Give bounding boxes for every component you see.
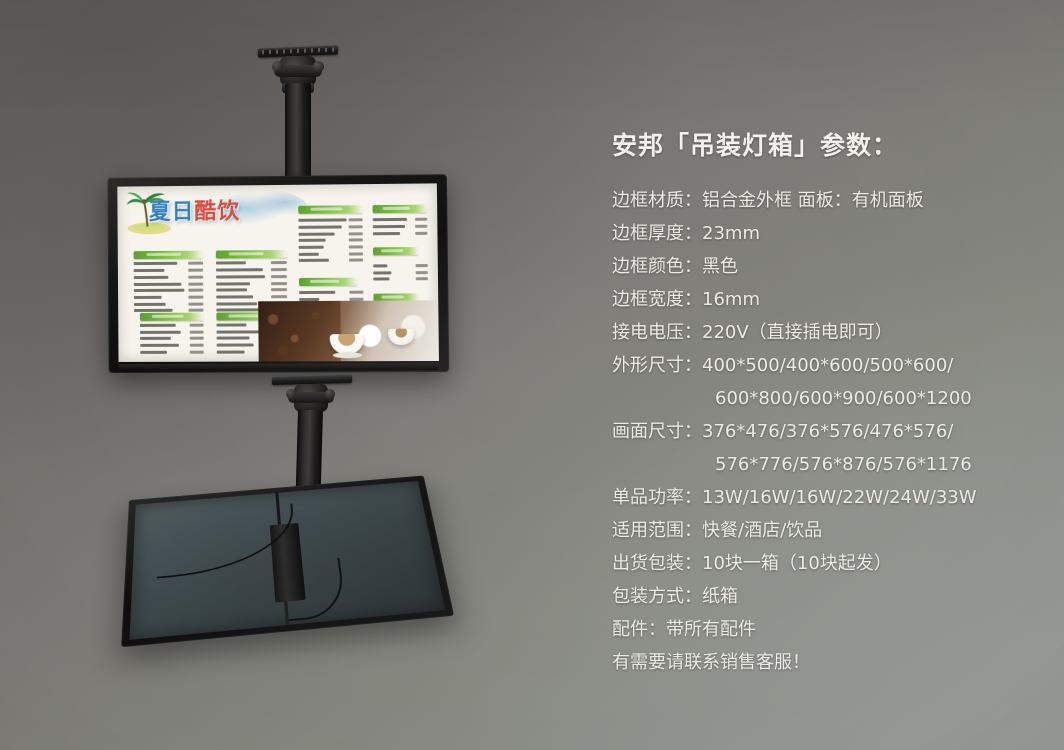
menu-item-row <box>373 277 428 282</box>
menu-item-row <box>299 290 363 295</box>
coffee-cup-front-icon <box>330 334 364 354</box>
swivel-knob-left-icon <box>272 61 283 72</box>
menu-item-row <box>134 301 204 306</box>
menu-light-box: 夏日酷饮 <box>107 174 449 373</box>
swivel-joint-upper <box>280 56 316 86</box>
swivel-joint-lower <box>294 384 328 412</box>
menu-item-row <box>216 281 286 286</box>
menu-item-row <box>299 231 363 236</box>
menu-item-row <box>141 336 205 341</box>
spec-line: 边框宽度：16mm <box>612 283 1042 316</box>
menu-header-artwork: 夏日酷饮 <box>117 185 315 247</box>
menu-item-row <box>373 224 428 229</box>
coffee-beans-image <box>258 301 341 362</box>
menu-item-row <box>134 261 204 266</box>
menu-item-row <box>299 251 363 256</box>
menu-section-rows-3 <box>140 323 204 357</box>
menu-section-banner-1 <box>134 251 204 259</box>
spec-line: 有需要请联系销售客服！ <box>612 646 1042 679</box>
frame-bottom-edge <box>119 363 440 371</box>
swivel-knob-lower-right-icon <box>325 389 335 399</box>
menu-item-row <box>299 245 363 250</box>
spec-line: 边框颜色：黑色 <box>612 250 1042 283</box>
menu-item-row <box>299 218 363 223</box>
coffee-photo <box>258 300 439 361</box>
menu-item-row <box>216 261 286 266</box>
menu-section-banner-8 <box>299 278 357 286</box>
spec-line: 包装方式：纸箱 <box>612 580 1042 613</box>
menu-section-banner-5 <box>299 205 363 214</box>
menu-item-row <box>134 275 204 280</box>
spec-line-list: 边框材质：铝合金外框 面板：有机面板 边框厚度：23mm 边框颜色：黑色 边框宽… <box>612 184 1042 679</box>
menu-title-accent: 酷饮 <box>194 200 240 225</box>
power-cable-secondary <box>284 558 347 621</box>
menu-section-banner-6 <box>373 205 428 214</box>
menu-section-rows-6 <box>373 217 428 238</box>
spec-line: 接电电压：220V（直接插电即可） <box>612 316 1042 349</box>
menu-item-row <box>216 288 286 293</box>
menu-item-row <box>134 268 204 273</box>
menu-item-row <box>134 281 204 286</box>
spec-line: 600*800/600*900/600*1200 <box>612 382 1042 415</box>
menu-item-row <box>299 224 363 229</box>
menu-section-rows-7 <box>373 263 428 284</box>
menu-item-row <box>299 238 363 243</box>
spec-line: 边框材质：铝合金外框 面板：有机面板 <box>612 184 1042 217</box>
light-box-rear-panel <box>121 475 454 647</box>
menu-item-row <box>299 258 363 263</box>
spec-line: 出货包装：10块一箱（10块起发） <box>612 547 1042 580</box>
menu-item-row <box>373 263 428 268</box>
swivel-knob-lower-left-icon <box>286 389 296 399</box>
menu-section-rows-5 <box>299 218 364 266</box>
menu-section-banner-2 <box>216 250 286 259</box>
spec-line: 外形尺寸：400*500/400*600/500*600/ <box>612 349 1042 382</box>
menu-section-banner-7 <box>373 247 418 255</box>
menu-item-row <box>373 217 428 222</box>
menu-item-row <box>134 288 204 293</box>
rear-panel-face <box>129 481 445 640</box>
product-photo-canvas: 夏日酷饮 <box>0 0 1064 750</box>
menu-item-row <box>373 270 428 275</box>
menu-item-row <box>216 274 286 279</box>
menu-section-rows-1 <box>134 261 204 315</box>
menu-screen: 夏日酷饮 <box>117 183 439 362</box>
menu-item-row <box>141 343 205 348</box>
rear-panel-frame <box>121 475 454 647</box>
menu-section-banner-3 <box>140 312 204 320</box>
menu-item-row <box>140 323 204 328</box>
menu-item-row <box>134 295 204 300</box>
swivel-knob-right-icon <box>313 61 324 72</box>
menu-item-row <box>140 330 204 335</box>
menu-item-row <box>141 350 205 355</box>
spec-line: 单品功率：13W/16W/16W/22W/24W/33W <box>612 481 1042 514</box>
menu-item-row <box>216 294 286 299</box>
spec-title: 安邦「吊装灯箱」参数： <box>612 126 1042 162</box>
coffee-cup-back-icon <box>388 329 414 345</box>
menu-item-row <box>216 267 286 272</box>
spec-line: 适用范围：快餐/酒店/饮品 <box>612 514 1042 547</box>
aluminum-frame: 夏日酷饮 <box>107 174 449 373</box>
menu-title-main: 夏日 <box>149 200 195 225</box>
spec-line: 边框厚度：23mm <box>612 217 1042 250</box>
spec-line: 配件：带所有配件 <box>612 613 1042 646</box>
spec-text-block: 安邦「吊装灯箱」参数： 边框材质：铝合金外框 面板：有机面板 边框厚度：23mm… <box>612 126 1042 679</box>
menu-item-row <box>373 231 428 236</box>
menu-title: 夏日酷饮 <box>149 194 241 227</box>
spec-line: 画面尺寸：376*476/376*576/476*576/ <box>612 415 1042 448</box>
spec-line: 576*776/576*876/576*1176 <box>612 448 1042 481</box>
backdrop-top-shade <box>0 0 1064 120</box>
